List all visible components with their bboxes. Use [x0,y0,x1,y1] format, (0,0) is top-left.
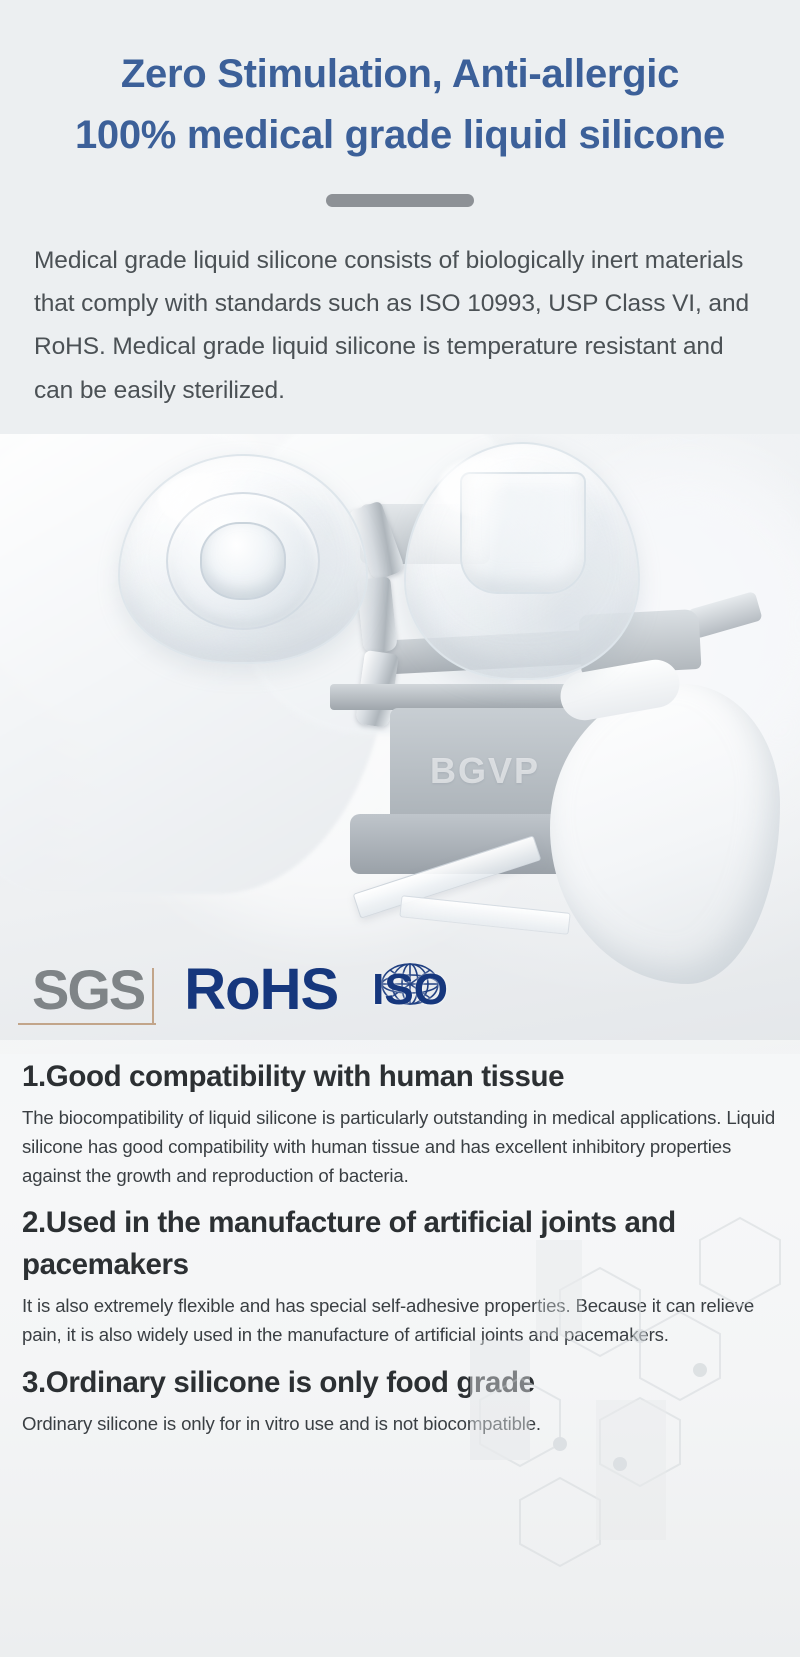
iso-logo: ISO [372,968,448,1012]
section-3-title: 3.Ordinary silicone is only food grade [22,1362,778,1404]
title-divider [326,194,474,207]
silicone-eartip-left [118,454,368,664]
sgs-logo: SGS [26,962,150,1018]
infographic-page: Zero Stimulation, Anti-allergic 100% med… [0,0,800,1657]
benefits-section: 1.Good compatibility with human tissue T… [0,1040,800,1657]
eartip-core [200,522,286,600]
section-1-body: The biocompatibility of liquid silicone … [22,1104,778,1190]
divider-wrapper [28,194,772,207]
eartip-highlight [158,472,258,528]
iso-logo-text: ISO [372,968,448,1012]
section-3-body: Ordinary silicone is only for in vitro u… [22,1410,778,1439]
section-2-title: 2.Used in the manufacture of artificial … [22,1202,778,1286]
rohs-logo: RoHS [184,961,338,1019]
section-1-title: 1.Good compatibility with human tissue [22,1056,778,1098]
section-2-body: It is also extremely flexible and has sp… [22,1292,778,1350]
intro-paragraph: Medical grade liquid silicone consists o… [34,239,766,412]
certification-logos: SGS RoHS ISO [0,955,800,1025]
silicone-eartip-right [404,442,640,680]
page-title-line-2: 100% medical grade liquid silicone [28,105,772,166]
page-title-line-1: Zero Stimulation, Anti-allergic [28,44,772,105]
title-block: Zero Stimulation, Anti-allergic 100% med… [0,0,800,207]
eartip-highlight [438,456,534,518]
